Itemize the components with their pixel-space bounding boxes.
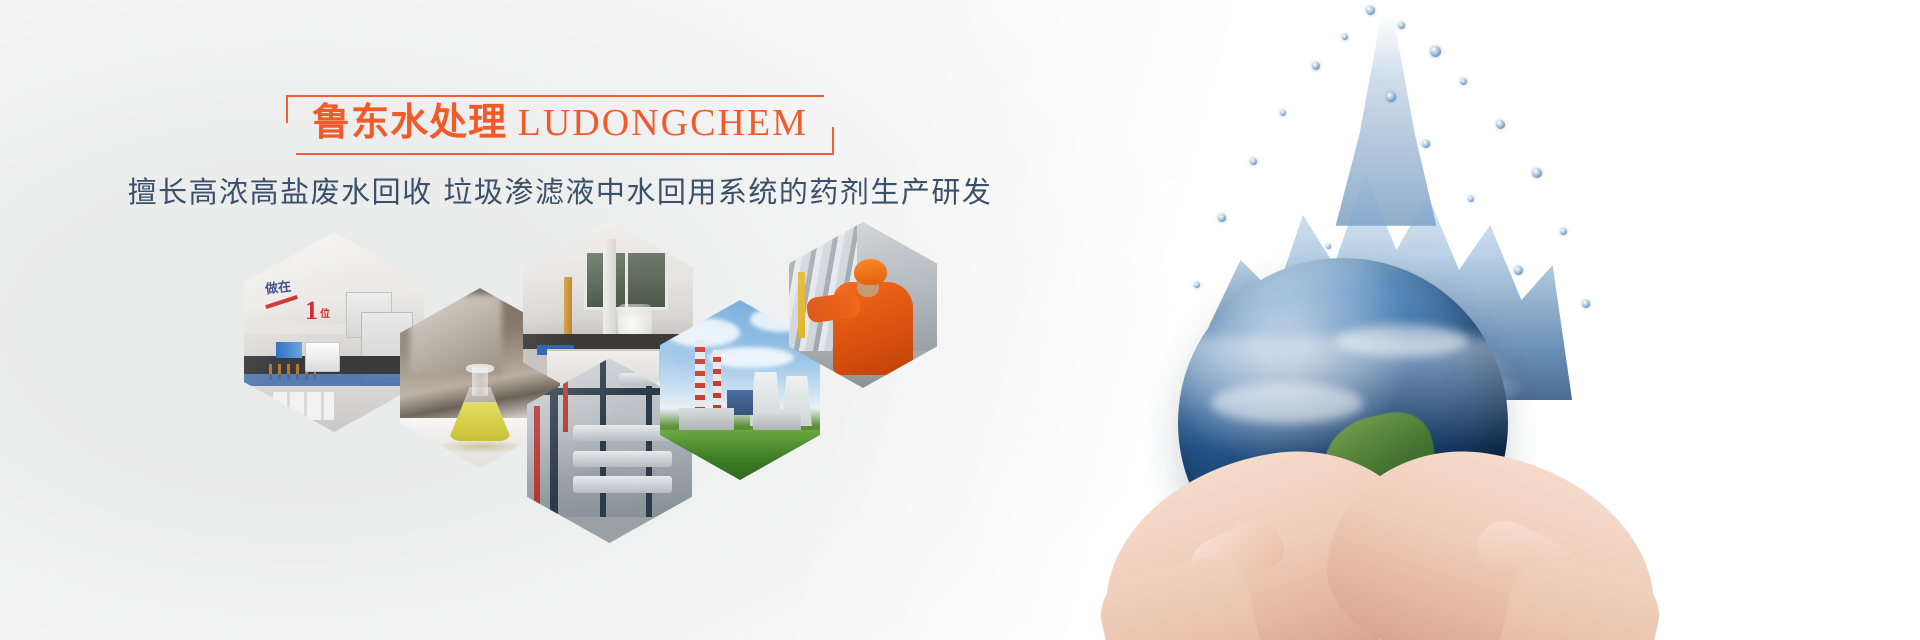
headline-block: 鲁东水处理 LUDONGCHEM 擅长高浓高盐废水回收 垃圾渗滤液中水回用系统的… <box>0 95 1120 211</box>
water-droplet <box>1460 78 1467 85</box>
water-droplet <box>1194 282 1200 288</box>
water-droplet <box>1430 46 1441 57</box>
title-rule-top <box>306 95 824 97</box>
bracket-bottom-right-icon <box>810 127 834 155</box>
water-bubble <box>1160 180 1173 193</box>
water-droplet <box>1342 34 1348 40</box>
water-droplet <box>1250 158 1257 165</box>
water-droplet <box>1422 140 1430 148</box>
water-droplet <box>1532 168 1542 178</box>
water-droplet <box>1218 214 1226 222</box>
water-droplet <box>1514 266 1523 275</box>
brand-title: 鲁东水处理 LUDONGCHEM <box>312 101 808 145</box>
water-droplet <box>1280 110 1286 116</box>
water-droplet <box>1398 22 1405 29</box>
water-droplet <box>1496 120 1505 129</box>
brand-title-frame: 鲁东水处理 LUDONGCHEM <box>286 95 834 155</box>
brand-title-en: LUDONGCHEM <box>518 102 808 144</box>
hex-tile-lab-room[interactable]: 做在 1 位 <box>244 232 424 432</box>
title-rule-bottom <box>296 153 814 155</box>
water-droplet <box>1560 228 1567 235</box>
water-droplet <box>1468 196 1474 202</box>
globe-cloud <box>1336 324 1468 357</box>
water-bubble <box>1626 120 1637 131</box>
water-globe-artwork <box>1060 0 1920 640</box>
water-droplet <box>1326 244 1331 249</box>
water-bubble <box>1600 52 1616 68</box>
water-droplet <box>1312 62 1320 70</box>
bracket-top-left-icon <box>286 95 310 123</box>
tile-gloss <box>244 232 424 432</box>
brand-title-cn: 鲁东水处理 <box>312 102 507 144</box>
hero-banner: 做在 1 位 <box>0 0 1920 640</box>
water-droplet <box>1366 6 1375 15</box>
water-droplet <box>1386 92 1396 102</box>
banner-subtitle: 擅长高浓高盐废水回收 垃圾渗滤液中水回用系统的药剂生产研发 <box>0 169 1120 211</box>
water-droplet <box>1582 300 1590 308</box>
hands-holding-globe <box>1100 406 1660 640</box>
water-jet <box>1326 16 1446 226</box>
